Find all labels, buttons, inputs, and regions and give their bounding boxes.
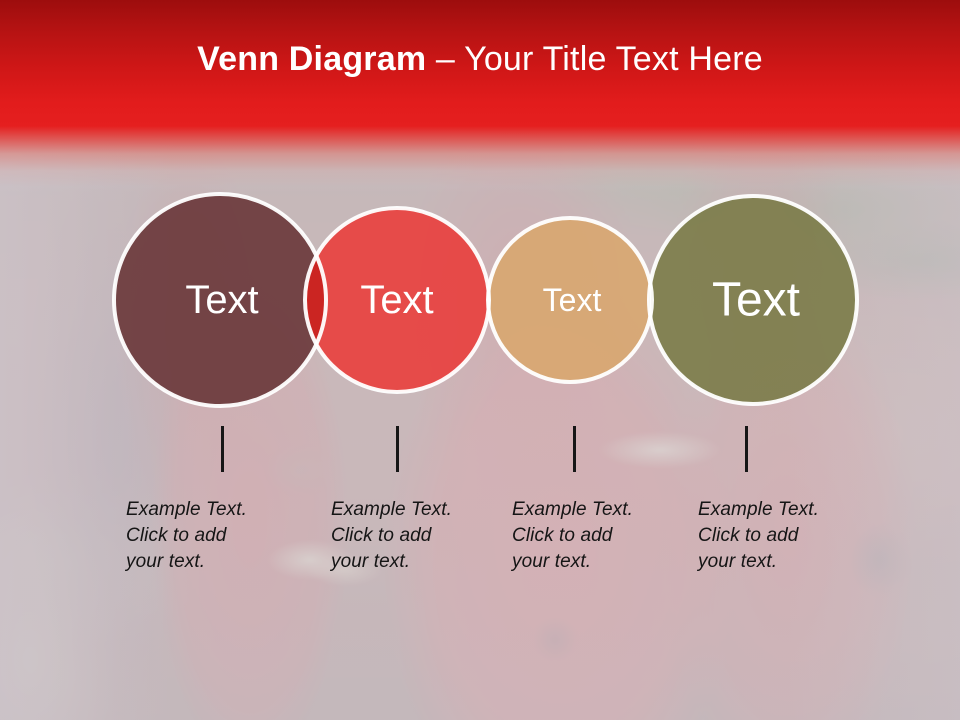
- caption-block-2[interactable]: Example Text. Click to add your text.: [331, 497, 506, 575]
- page-title-rest: Your Title Text Here: [464, 40, 763, 78]
- caption-line: Click to add: [331, 523, 506, 549]
- caption-line: Example Text.: [331, 497, 506, 523]
- caption-block-3[interactable]: Example Text. Click to add your text.: [512, 497, 687, 575]
- caption-line: your text.: [331, 549, 506, 575]
- caption-line: your text.: [512, 549, 687, 575]
- connector-line-2: [396, 426, 399, 472]
- page-title: Venn Diagram – Your Title Text Here: [0, 42, 960, 76]
- connector-line-1: [221, 426, 224, 472]
- caption-line: Click to add: [126, 523, 301, 549]
- title-banner-fade: [0, 126, 960, 192]
- caption-line: Example Text.: [126, 497, 301, 523]
- page-title-separator: –: [426, 40, 464, 78]
- caption-block-1[interactable]: Example Text. Click to add your text.: [126, 497, 301, 575]
- caption-line: Example Text.: [698, 497, 873, 523]
- caption-line: Click to add: [512, 523, 687, 549]
- page-title-bold: Venn Diagram: [197, 40, 426, 78]
- caption-block-4[interactable]: Example Text. Click to add your text.: [698, 497, 873, 575]
- caption-line: Click to add: [698, 523, 873, 549]
- connector-line-4: [745, 426, 748, 472]
- slide-canvas: Venn Diagram – Your Title Text Here: [0, 0, 960, 720]
- caption-line: Example Text.: [512, 497, 687, 523]
- connector-line-3: [573, 426, 576, 472]
- caption-line: your text.: [698, 549, 873, 575]
- caption-line: your text.: [126, 549, 301, 575]
